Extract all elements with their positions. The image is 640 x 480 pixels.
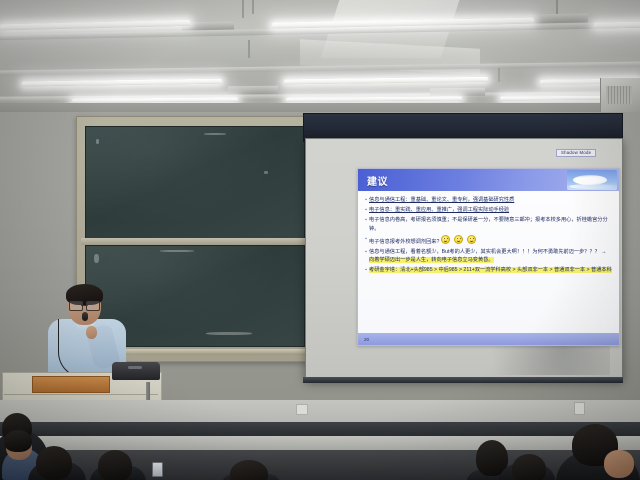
smartphone-icon[interactable] [152,462,163,477]
blackboard-panel-upper [85,126,305,240]
light-hanger [498,68,500,82]
ceiling-tube-light [500,96,612,101]
smiley-face-icon [454,235,463,244]
podium-wood-panel [32,376,110,393]
audience-head [36,446,72,480]
slide-body: ▪ 信息与通信工程：重基础、重论文、重专利，强调基础研究性质 ▪ 电子信息：重实… [358,191,619,340]
slide-title-bar: 建议 [358,169,619,191]
cloud-sky-decoration-icon [567,170,617,190]
ceiling-tube-light [594,21,640,28]
light-hanger [242,0,244,18]
bullet-text: 信息与通信工程，看着名额少，But考的人更少，其实机会更大啊！！！为何不勇敢先前… [369,249,606,255]
light-fixture [430,88,485,97]
bullet-text-mixed: 信息与通信工程，看着名额少，But考的人更少，其实机会更大啊！！！为何不勇敢先前… [369,248,613,264]
light-fixture [228,86,278,95]
bullet-text-mixed: 考研金字塔：清北+头部985 > 中后985 > 211+双一流学科高校 > 头… [369,266,613,274]
podium-seam [4,394,158,395]
smiley-face-icon [467,235,476,244]
light-fixture [528,13,588,23]
light-hanger [252,0,254,14]
audience-head [604,450,634,478]
bullet-text: 电子信息：重实践、重应用、重推广，强调工程实际动手经验 [369,206,613,214]
bullet-text: 信息与通信工程：重基础、重论文、重专利，强调基础研究性质 [369,196,613,204]
slide-bullet: ▪ 电子信息报考外校想调剂回来? [363,235,613,246]
slide-bullet: ▪ 电子信息内卷高，考研报名须慎重；不是保研差一分，不要随意三邮冲；报考本校多用… [363,216,613,232]
speaker-hand [86,326,97,339]
bullet-text-highlighted: 清北+头部985 > 中后985 > 211+双一流学科高校 > 头部双非一本 … [400,267,612,273]
audience-head [230,460,268,480]
slide-bullet: ▪ 电子信息：重实践、重应用、重推广，强调工程实际动手经验 [363,206,613,214]
slide-bullet: ▪ 考研金字塔：清北+头部985 > 中后985 > 211+双一流学科高校 >… [363,266,613,274]
console-indicator-strip [128,366,142,369]
slide-title: 建议 [367,173,388,188]
bullet-text: 电子信息内卷高，考研报名须慎重；不是保研差一分，不要随意三邮冲；报考本校多用心，… [369,216,613,232]
bullet-text: 电子信息报考外校想调剂回来? [369,239,439,245]
bullet-text-with-emoji: 电子信息报考外校想调剂回来? [369,235,613,246]
slide-bullet: ▪ 信息与通信工程，看着名额少，But考的人更少，其实机会更大啊！！！为何不勇敢… [363,248,613,264]
light-hanger [556,0,558,14]
audience-head [98,450,132,480]
wall-plate [574,402,585,415]
blackboard-divider [81,238,309,245]
lower-wall [0,400,640,424]
audience-head [4,430,32,452]
slide-page-number: 20 [364,337,369,342]
smiley-face-icon [441,235,450,244]
wall-plate [296,404,308,415]
projection-screen-bottom-bar [303,377,623,383]
podium-console[interactable] [112,362,160,380]
slide-bullet: ▪ 信息与通信工程：重基础、重论文、重专利，强调基础研究性质 [363,196,613,204]
lecture-hall-photo: Shadow Mode 建议 ▪ 信息与通信工程：重基础、重论文、重专利，强调基… [0,0,640,480]
audience-head [512,454,546,480]
front-ledge [0,422,640,436]
bullet-text-highlighted: 转向电子信息立马变黄昏。 [431,257,493,263]
air-conditioner-grill [606,86,632,104]
eyeglasses-icon [69,301,100,309]
light-hanger [248,40,250,58]
presentation-slide: 建议 ▪ 信息与通信工程：重基础、重论文、重专利，强调基础研究性质 ▪ 电子信息… [357,168,620,346]
bullet-text-highlighted: 向着学硕迈出一步是人生， [369,257,431,263]
bullet-text-highlighted: 考研金字塔： [369,267,400,273]
shadow-mode-badge: Shadow Mode [556,149,596,157]
slide-footer: 20 [358,333,619,345]
